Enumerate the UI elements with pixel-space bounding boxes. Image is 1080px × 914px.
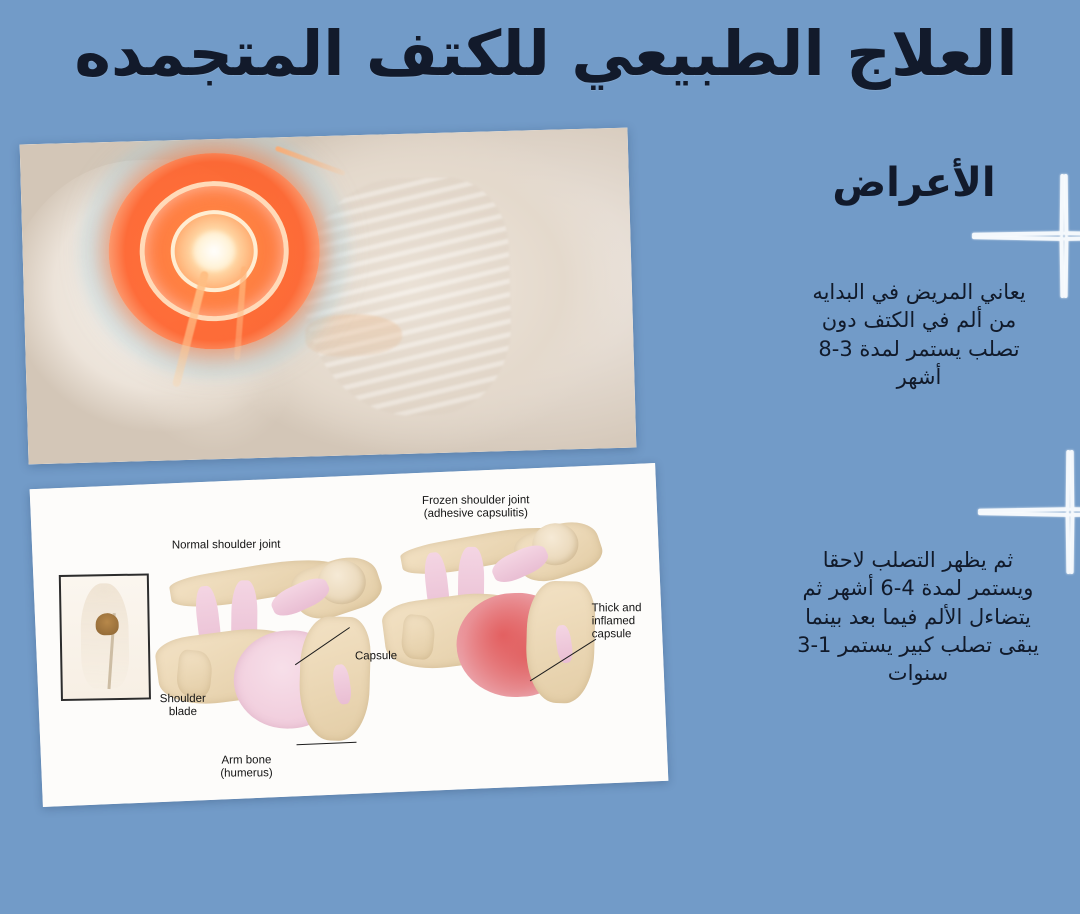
symptom-card-2-text: ثم يظهر التصلب لاحقا ويستمر لمدة 4-6 أشه… (766, 512, 1070, 688)
label-capsule: Capsule (355, 650, 435, 664)
symptom-card-1: يعاني المريض في البدايه من ألم في الكتف … (774, 236, 1064, 480)
symptoms-heading: الأعراض (764, 160, 1064, 206)
label-shoulder-blade: Shoulder blade (135, 693, 231, 720)
diagram-background: Normal shoulder joint Frozen shoulder jo… (30, 463, 669, 807)
label-normal-shoulder-joint: Normal shoulder joint (136, 538, 316, 552)
label-thick-inflamed-capsule: Thick and inflamed capsule (592, 602, 669, 642)
photo-background (20, 128, 637, 465)
page-title: العلاج الطبيعي للكتف المتجمده (40, 18, 1052, 89)
symptom-card-2: ثم يظهر التصلب لاحقا ويستمر لمدة 4-6 أشه… (766, 512, 1070, 834)
body-locator-inset (59, 573, 151, 701)
label-arm-bone: Arm bone (humerus) (191, 754, 301, 781)
leader-arm-bone (297, 742, 357, 746)
inset-torso-outline (80, 583, 130, 689)
infographic-canvas: العلاج الطبيعي للكتف المتجمده (0, 0, 1080, 914)
symptom-card-1-text: يعاني المريض في البدايه من ألم في الكتف … (774, 236, 1064, 391)
label-frozen-shoulder-joint: Frozen shoulder joint (adhesive capsulit… (383, 494, 569, 522)
pain-indicator-icon (102, 146, 327, 357)
inset-joint-marker (96, 613, 119, 635)
shoulder-joint-diagram: Normal shoulder joint Frozen shoulder jo… (30, 463, 669, 807)
shoulder-pain-photo (20, 128, 637, 465)
normal-coracoid (175, 649, 213, 698)
